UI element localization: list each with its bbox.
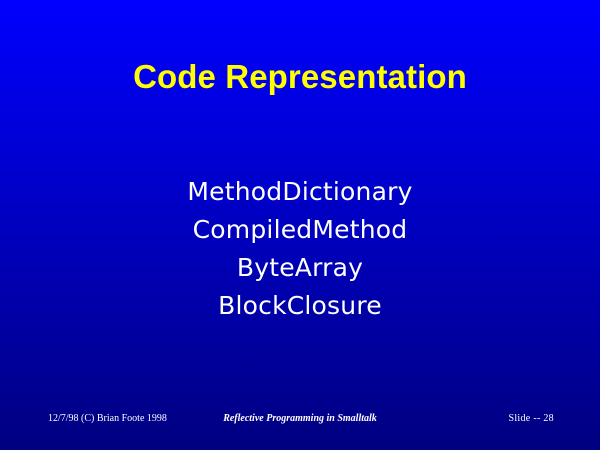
slide-footer: 12/7/98 (C) Brian Foote 1998 Reflective … — [0, 412, 600, 430]
slide-body-list: MethodDictionary CompiledMethod ByteArra… — [0, 173, 600, 325]
list-item: ByteArray — [0, 249, 600, 287]
presentation-slide: Code Representation MethodDictionary Com… — [0, 0, 600, 450]
page-title: Code Representation — [0, 57, 600, 97]
list-item: MethodDictionary — [0, 173, 600, 211]
footer-slide-number: Slide -- 28 — [508, 412, 554, 426]
list-item: BlockClosure — [0, 287, 600, 325]
list-item: CompiledMethod — [0, 211, 600, 249]
